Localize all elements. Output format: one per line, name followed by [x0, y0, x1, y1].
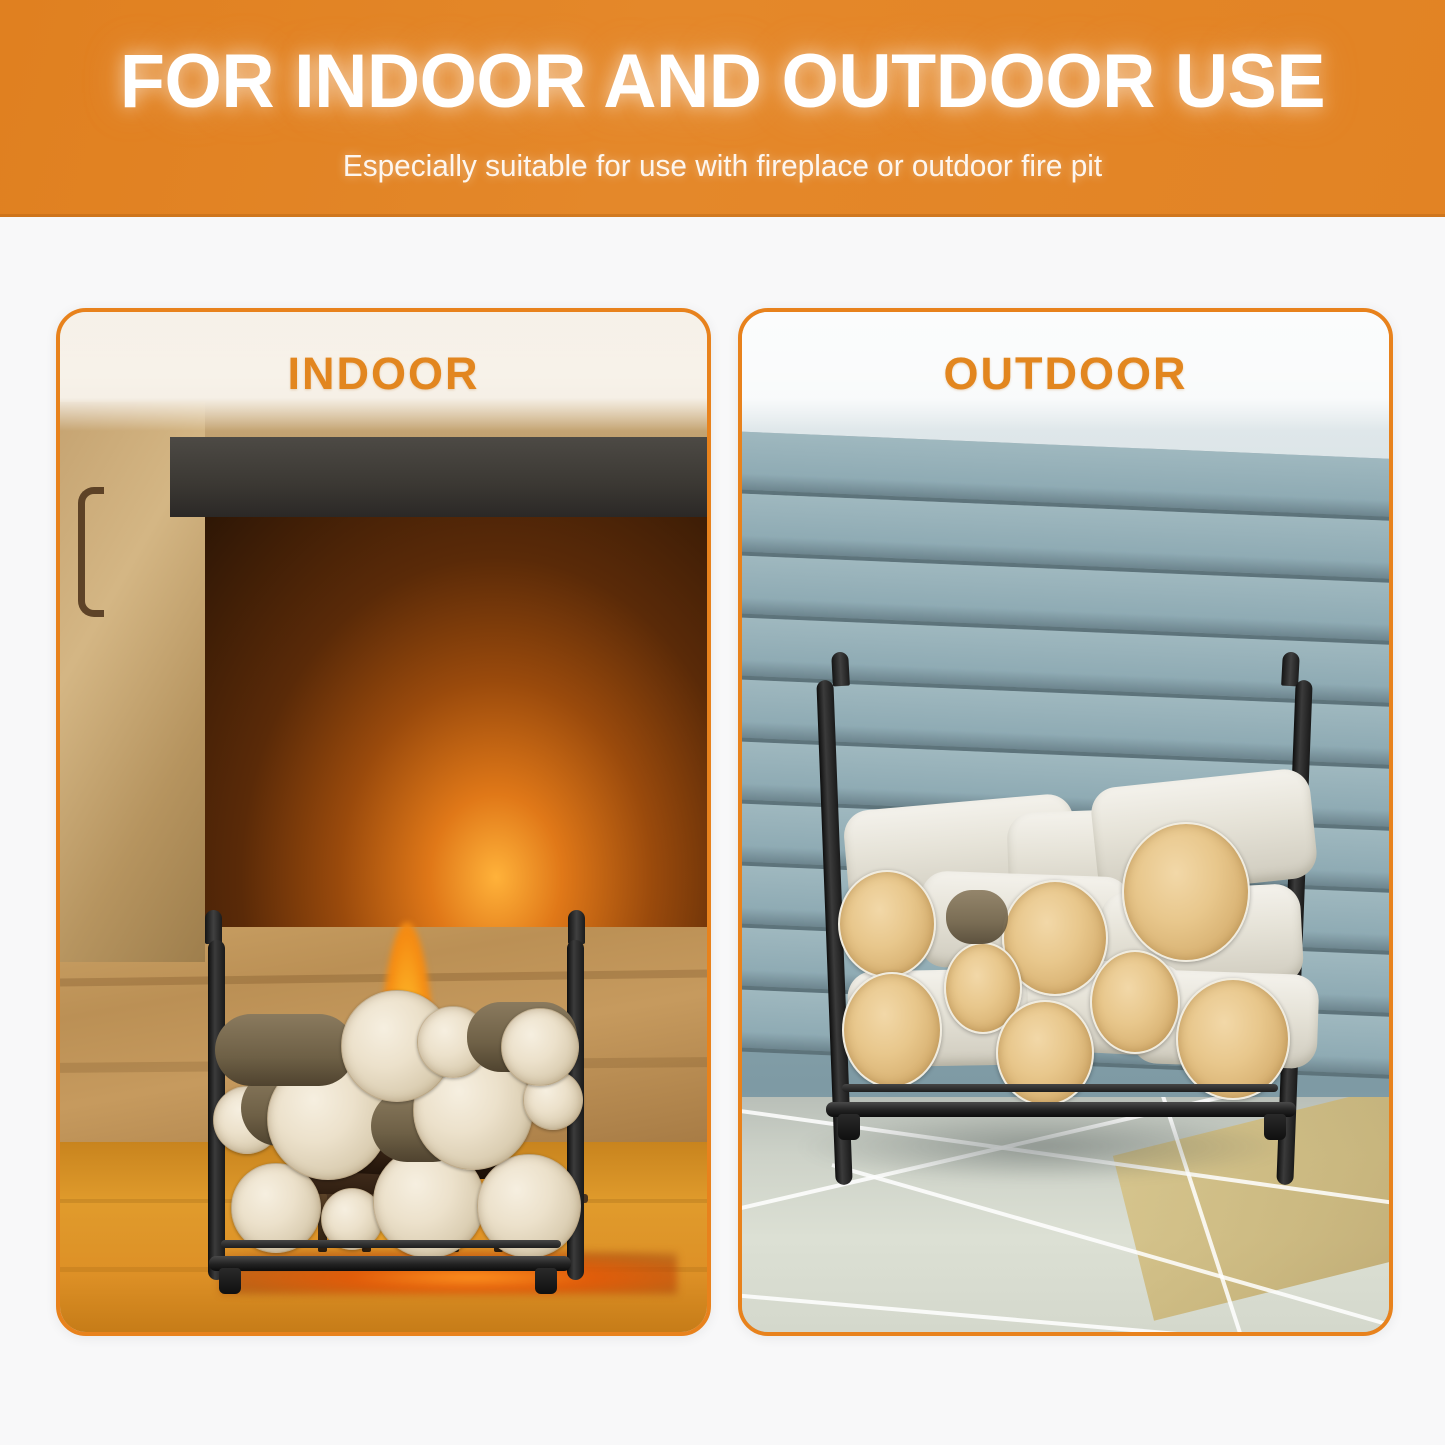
log-item [838, 870, 936, 978]
log-item [1090, 950, 1180, 1054]
panel-indoor: INDOOR [56, 308, 711, 1336]
comparison-panels: INDOOR [0, 217, 1445, 1445]
log-item [501, 1008, 579, 1086]
panel-outdoor: OUTDOOR [738, 308, 1393, 1336]
outdoor-label: OUTDOOR [944, 348, 1188, 400]
log-item [842, 972, 942, 1088]
log-item [1176, 978, 1290, 1100]
log-item [1122, 822, 1250, 962]
outdoor-photo [742, 312, 1389, 1332]
firebox [205, 512, 707, 927]
log-rack-indoor [205, 910, 585, 1300]
page-subtitle: Especially suitable for use with firepla… [29, 148, 1416, 184]
log-knot [946, 890, 1008, 944]
indoor-label: INDOOR [288, 348, 480, 400]
log-item [215, 1014, 355, 1086]
outdoor-label-band: OUTDOOR [742, 312, 1389, 431]
page-title: FOR INDOOR AND OUTDOOR USE [22, 38, 1424, 125]
fireplace-header-beam [170, 437, 707, 517]
iron-hook-icon [78, 487, 104, 617]
log-rack-outdoor [812, 652, 1322, 1227]
header-banner: FOR INDOOR AND OUTDOOR USE Especially su… [0, 0, 1445, 217]
indoor-label-band: INDOOR [60, 312, 707, 431]
indoor-photo [60, 312, 707, 1332]
